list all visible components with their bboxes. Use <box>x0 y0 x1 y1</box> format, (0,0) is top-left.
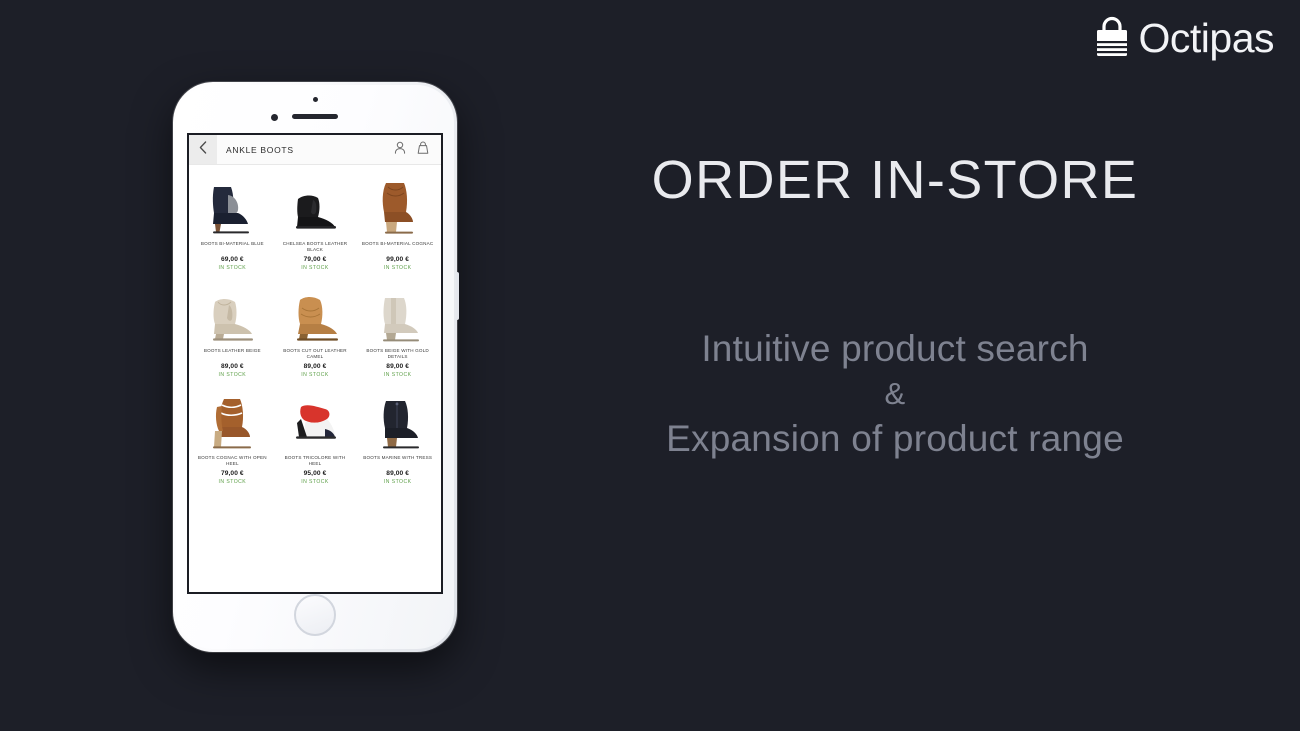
shopping-bag-icon[interactable] <box>417 141 429 159</box>
product-name: BOOTS LEATHER BEIGE <box>204 348 261 361</box>
product-price: 89,00 € <box>221 363 244 370</box>
back-button[interactable] <box>189 135 217 164</box>
product-card[interactable]: BOOTS CUT OUT LEATHER CAMEL 89,00 € IN S… <box>274 276 357 383</box>
cognac-open-heel-boot-image <box>193 389 272 451</box>
product-card[interactable]: CHELSEA BOOTS LEATHER BLACK 79,00 € IN S… <box>274 169 357 276</box>
product-card[interactable]: BOOTS BI-MATERIAL BLUE 69,00 € IN STOCK <box>191 169 274 276</box>
proximity-sensor-icon <box>313 97 318 102</box>
home-button[interactable] <box>294 594 336 636</box>
brand-name: Octipas <box>1139 18 1275 59</box>
person-icon[interactable] <box>394 141 406 159</box>
beige-leather-chelsea-boot-image <box>193 282 272 344</box>
stock-status: IN STOCK <box>384 265 412 271</box>
slide-headline: ORDER IN-STORE <box>520 152 1270 209</box>
navy-boot-with-tress-image <box>358 389 437 451</box>
slide-subtitle: Intuitive product search & Expansion of … <box>520 324 1270 464</box>
subtitle-line-1: Intuitive product search <box>701 328 1088 369</box>
product-name: BOOTS TRICOLORE WITH HEEL <box>278 455 352 468</box>
product-card[interactable]: BOOTS LEATHER BEIGE 89,00 € IN STOCK <box>191 276 274 383</box>
chevron-left-icon <box>199 141 207 159</box>
header-actions <box>394 141 441 159</box>
product-grid: BOOTS BI-MATERIAL BLUE 69,00 € IN STOCK … <box>189 165 441 490</box>
black-chelsea-boot-image <box>276 175 355 237</box>
tricolore-heeled-shoe-image <box>276 389 355 451</box>
product-card[interactable]: BOOTS MARINE WITH TRESS 89,00 € IN STOCK <box>356 383 439 490</box>
front-camera-icon <box>271 114 278 121</box>
product-name: BOOTS COGNAC WITH OPEN HEEL <box>195 455 269 468</box>
shopping-bag-icon <box>1092 16 1132 60</box>
stock-status: IN STOCK <box>301 265 329 271</box>
product-price: 79,00 € <box>221 470 244 477</box>
product-card[interactable]: BOOTS TRICOLORE WITH HEEL 95,00 € IN STO… <box>274 383 357 490</box>
subtitle-conjunction: & <box>520 373 1270 414</box>
brand-logo: Octipas <box>1092 16 1275 60</box>
phone-screen: ANKLE BOOTS <box>187 133 443 594</box>
stock-status: IN STOCK <box>219 479 247 485</box>
product-name: CHELSEA BOOTS LEATHER BLACK <box>278 241 352 254</box>
product-price: 89,00 € <box>386 363 409 370</box>
stock-status: IN STOCK <box>384 479 412 485</box>
product-price: 95,00 € <box>304 470 327 477</box>
stock-status: IN STOCK <box>219 372 247 378</box>
product-name: BOOTS BI-MATERIAL BLUE <box>201 241 264 254</box>
product-price: 99,00 € <box>386 256 409 263</box>
camel-cut-out-boot-image <box>276 282 355 344</box>
stock-status: IN STOCK <box>301 372 329 378</box>
product-card[interactable]: BOOTS COGNAC WITH OPEN HEEL 79,00 € IN S… <box>191 383 274 490</box>
product-card[interactable]: BOOTS BEIGE WITH GOLD DETAILS 89,00 € IN… <box>356 276 439 383</box>
product-name: BOOTS BEIGE WITH GOLD DETAILS <box>361 348 435 361</box>
phone-mockup: ANKLE BOOTS <box>173 82 457 652</box>
cognac-boot-wooden-heel-image <box>358 175 437 237</box>
page-title: ANKLE BOOTS <box>226 145 294 155</box>
product-price: 79,00 € <box>304 256 327 263</box>
product-card[interactable]: BOOTS BI-MATERIAL COGNAC 99,00 € IN STOC… <box>356 169 439 276</box>
stock-status: IN STOCK <box>219 265 247 271</box>
earpiece-speaker <box>292 114 338 119</box>
product-name: BOOTS CUT OUT LEATHER CAMEL <box>278 348 352 361</box>
stock-status: IN STOCK <box>301 479 329 485</box>
subtitle-line-2: Expansion of product range <box>666 418 1124 459</box>
product-name: BOOTS BI-MATERIAL COGNAC <box>362 241 433 254</box>
power-button[interactable] <box>456 272 459 320</box>
app-header: ANKLE BOOTS <box>189 135 441 165</box>
product-price: 89,00 € <box>386 470 409 477</box>
product-price: 69,00 € <box>221 256 244 263</box>
beige-boot-gold-details-image <box>358 282 437 344</box>
navy-grey-heeled-ankle-boot-image <box>193 175 272 237</box>
product-price: 89,00 € <box>304 363 327 370</box>
product-name: BOOTS MARINE WITH TRESS <box>363 455 432 468</box>
stock-status: IN STOCK <box>384 372 412 378</box>
